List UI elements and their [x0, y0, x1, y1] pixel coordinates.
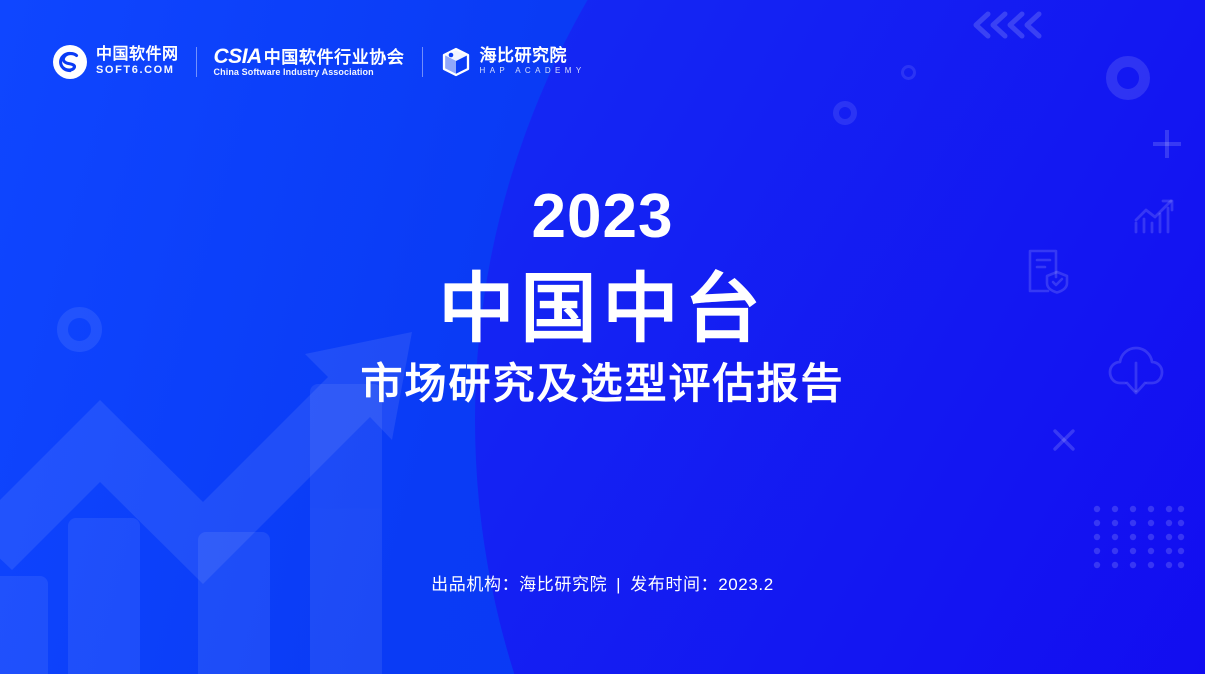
csia-cn-label: 中国软件行业协会	[264, 49, 405, 66]
hap-cn-label: 海比研究院	[480, 47, 586, 66]
hap-en-label: HAP ACADEMY	[480, 66, 586, 76]
logo-divider	[196, 47, 197, 77]
logo-csia: CSIA 中国软件行业协会 China Software Industry As…	[214, 40, 405, 84]
cover-year: 2023	[0, 186, 1205, 248]
logo-bar: 中国软件网 SOFT6.COM CSIA 中国软件行业协会 China Soft…	[52, 40, 586, 84]
dot-grid-icon	[1093, 505, 1185, 571]
plus-icon	[1150, 127, 1184, 161]
hap-cube-icon	[440, 46, 472, 78]
publisher-value: 海比研究院	[519, 575, 607, 594]
csia-abbr-label: CSIA	[214, 46, 262, 67]
title-block: 2023 中国中台 市场研究及选型评估报告	[0, 186, 1205, 407]
chevron-left-group-icon	[968, 5, 1050, 45]
soft6-en-label: SOFT6.COM	[96, 64, 179, 77]
date-value: 2023.2	[718, 575, 774, 594]
close-x-icon	[1051, 427, 1077, 453]
ring-icon-right	[1106, 56, 1150, 100]
ring-icon-mid	[833, 101, 857, 125]
footer-separator: |	[616, 575, 621, 595]
csia-en-label: China Software Industry Association	[214, 67, 405, 78]
logo-divider	[422, 47, 423, 77]
ring-icon-small	[901, 65, 916, 80]
cover-subtitle: 市场研究及选型评估报告	[0, 361, 1205, 407]
publisher-label: 出品机构：	[431, 575, 519, 594]
date-label: 发布时间：	[630, 575, 718, 594]
logo-soft6: 中国软件网 SOFT6.COM	[52, 40, 179, 84]
logo-hap: 海比研究院 HAP ACADEMY	[440, 40, 586, 84]
report-cover: 中国软件网 SOFT6.COM CSIA 中国软件行业协会 China Soft…	[0, 0, 1205, 674]
soft6-cn-label: 中国软件网	[96, 46, 179, 64]
cover-title: 中国中台	[0, 270, 1205, 351]
footer-meta: 出品机构：海比研究院|发布时间：2023.2	[0, 570, 1205, 595]
soft6-swirl-icon	[52, 44, 88, 80]
